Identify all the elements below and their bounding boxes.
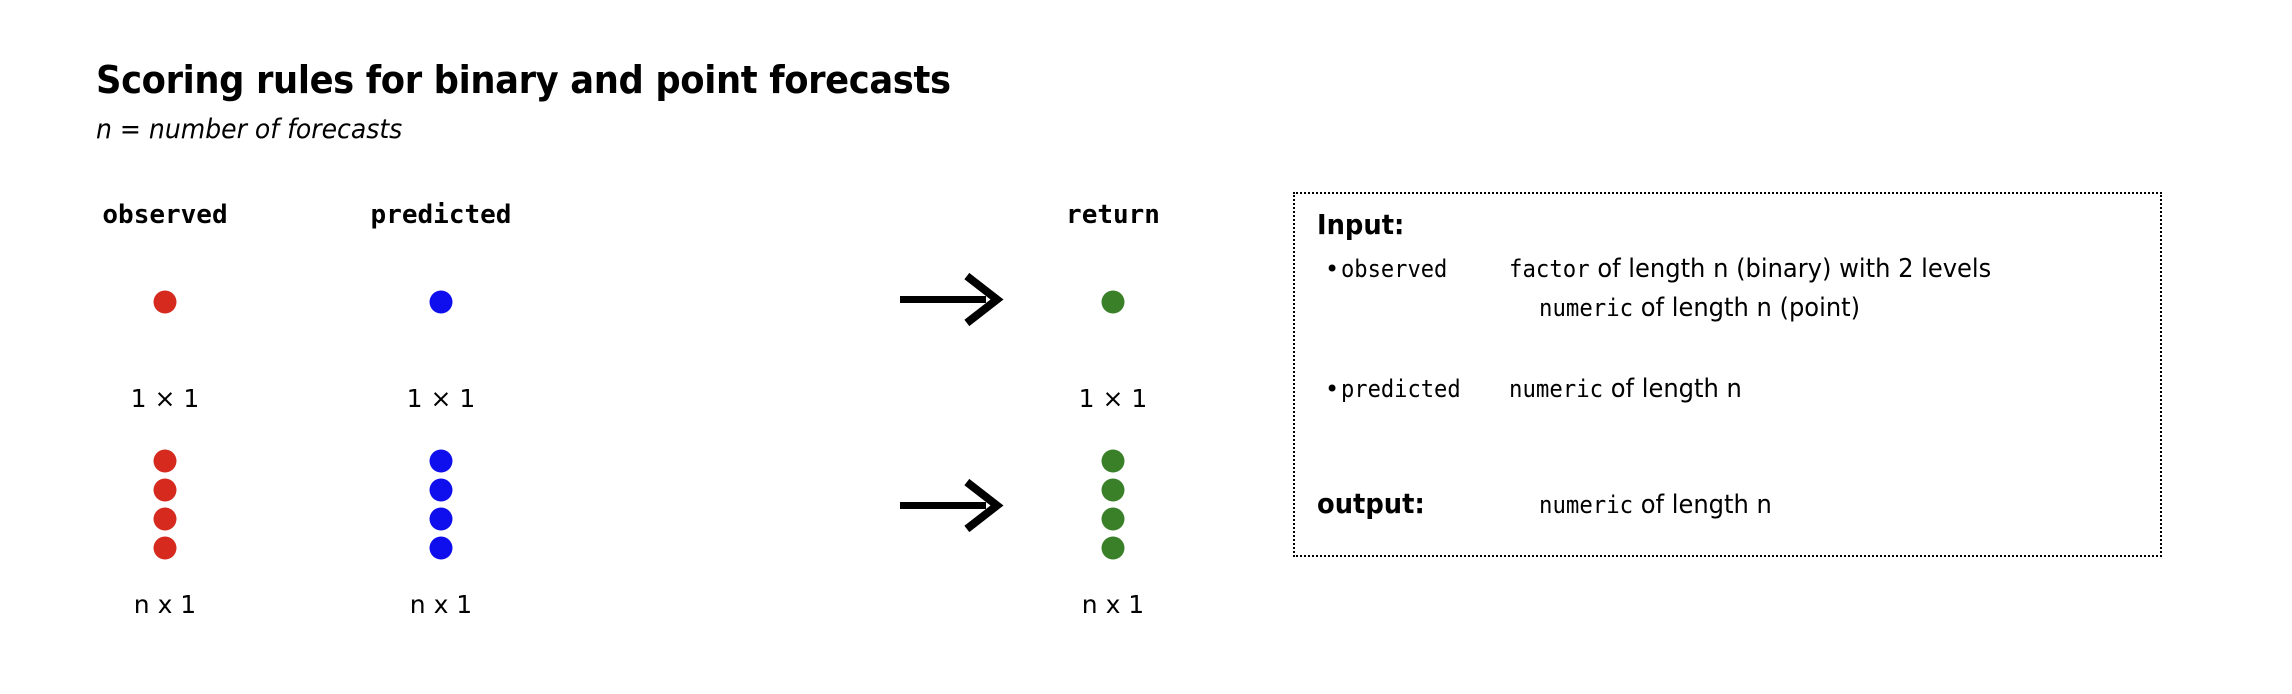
return-shape-label: 1 × 1 xyxy=(1079,384,1148,413)
observed-dot xyxy=(154,479,177,502)
predicted-dot xyxy=(430,537,453,560)
observed-dot xyxy=(154,291,177,314)
param-desc-observed-line2: numeric of length n (point) xyxy=(1539,293,1884,323)
output-desc-type: numeric xyxy=(1539,491,1633,519)
observed-shape-label: 1 × 1 xyxy=(131,384,200,413)
output-desc: numeric of length n xyxy=(1539,490,1789,520)
predicted-dot xyxy=(430,450,453,473)
return-dot xyxy=(1102,537,1125,560)
predicted-dot xyxy=(430,291,453,314)
predicted-dot xyxy=(430,508,453,531)
param-desc-observed-line2-text: numeric of length n (point) xyxy=(1539,293,1860,323)
diagram-canvas: Scoring rules for binary and point forec… xyxy=(0,0,2292,694)
param-desc-rest: of length n xyxy=(1603,374,1742,404)
output-label-colon: : xyxy=(1414,487,1424,520)
return-dot xyxy=(1102,508,1125,531)
return-dot xyxy=(1102,479,1125,502)
param-desc-observed: factor of length n (binary) with 2 level… xyxy=(1509,254,1991,284)
param-desc-rest: of length n (binary) with 2 levels xyxy=(1590,254,1992,284)
param-row-predicted: •predictednumeric of length n xyxy=(1325,374,1759,404)
right-arrow-icon xyxy=(898,273,1004,332)
page-subtitle: n = number of forecasts xyxy=(96,114,402,145)
return-dot xyxy=(1102,291,1125,314)
bullet-icon: • xyxy=(1325,375,1341,403)
predicted-dot xyxy=(430,479,453,502)
right-arrow-icon xyxy=(898,479,1004,538)
observed-dot xyxy=(154,508,177,531)
observed-dot xyxy=(154,537,177,560)
param-desc-type: numeric xyxy=(1509,375,1603,403)
column-header-predicted: predicted xyxy=(371,200,512,230)
output-desc-rest: of length n xyxy=(1633,490,1772,520)
io-spec-box: Input: •observedfactor of length n (bina… xyxy=(1293,192,2162,557)
output-label-text: output xyxy=(1317,487,1414,520)
predicted-shape-label: n x 1 xyxy=(410,590,472,619)
observed-shape-label: n x 1 xyxy=(134,590,196,619)
bullet-icon: • xyxy=(1325,255,1341,283)
return-shape-label: n x 1 xyxy=(1082,590,1144,619)
param-desc-type-2: numeric xyxy=(1539,294,1633,322)
input-label-colon: : xyxy=(1394,208,1404,241)
param-name-predicted: predicted xyxy=(1341,375,1496,403)
column-header-observed: observed xyxy=(102,200,227,230)
param-desc-rest-2: of length n (point) xyxy=(1633,293,1860,323)
input-section-label: Input: xyxy=(1317,208,1404,241)
return-dot xyxy=(1102,450,1125,473)
param-name-observed: observed xyxy=(1341,255,1496,283)
input-label-text: Input xyxy=(1317,208,1394,241)
column-header-return: return xyxy=(1066,200,1160,230)
predicted-shape-label: 1 × 1 xyxy=(407,384,476,413)
param-row-observed: •observedfactor of length n (binary) wit… xyxy=(1325,254,2028,284)
output-desc-text: numeric of length n xyxy=(1539,490,1772,520)
param-desc-type: factor xyxy=(1509,255,1590,283)
output-section-label: output: xyxy=(1317,487,1425,520)
param-desc-predicted: numeric of length n xyxy=(1509,374,1742,404)
observed-dot xyxy=(154,450,177,473)
page-title: Scoring rules for binary and point forec… xyxy=(96,58,951,102)
